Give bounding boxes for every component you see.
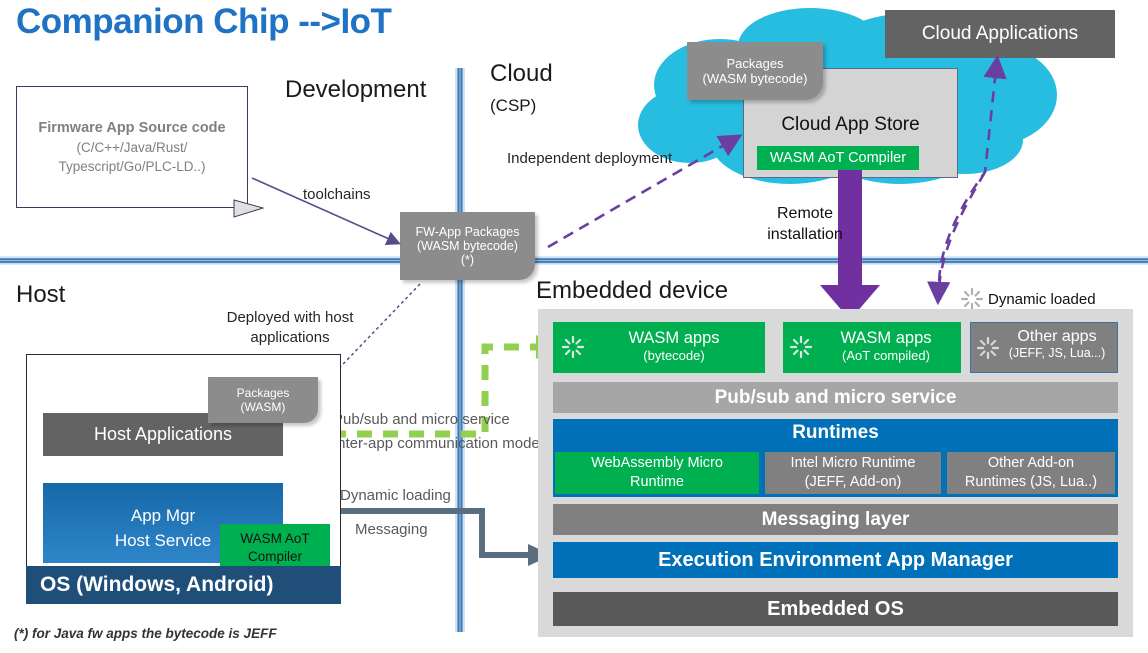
diagram-canvas: Companion Chip -->IoT Development Cloud … [0,0,1148,653]
cloud-wasm-aot-compiler-box: WASM AoT Compiler [757,146,919,170]
remote-installation-arrow [820,170,880,320]
horizontal-divider [0,256,1148,265]
fw-packages-line1: FW-App Packages [416,225,520,239]
label-interapp-models: Inter-app communication models [333,435,551,452]
embedded-exec-env-bar: Execution Environment App Manager [553,542,1118,578]
embedded-runtime-box-1: Intel Micro Runtime (JEFF, Add-on) [765,452,941,494]
host-os-box: OS (Windows, Android) [26,566,341,604]
dynamic-loaded-spinner-icon [960,287,984,311]
embedded-app-box-0: WASM apps (bytecode) [553,322,765,373]
host-packages-note: Packages (WASM) [208,377,318,423]
host-wasm-aot-l2: Compiler [248,548,302,566]
section-heading-host: Host [16,281,65,309]
cloud-applications-box: Cloud Applications [885,10,1115,58]
cloud-packages-line1: Packages [726,56,783,71]
app-spinner-icon-0 [561,335,585,359]
cloud-packages-line2: (WASM bytecode) [703,71,808,86]
embedded-app-box-1: WASM apps (AoT compiled) [783,322,961,373]
vertical-divider [455,68,465,632]
embedded-runtime-l2-2: Runtimes (JS, Lua..) [965,473,1097,492]
embedded-runtime-l2-1: (JEFF, Add-on) [805,473,902,492]
label-deployed-with-host-l2: applications [215,328,365,348]
section-heading-cloud: Cloud [490,60,553,88]
cloud-packages-note: Packages (WASM bytecode) [687,42,823,100]
label-dynamic-loaded: Dynamic loaded [988,291,1096,308]
embedded-runtime-l1-2: Other Add-on [988,454,1074,473]
firmware-source-title: Firmware App Source code [38,118,225,138]
host-packages-line2: (WASM) [241,400,286,414]
label-deployed-with-host: Deployed with host applications [215,308,365,348]
embedded-pubsub-bar: Pub/sub and micro service [553,382,1118,413]
firmware-source-code-box: Firmware App Source code (C/C++/Java/Rus… [16,86,248,208]
host-wasm-aot-compiler-box: WASM AoT Compiler [220,524,330,571]
embedded-app-box-2: Other apps (JEFF, JS, Lua...) [970,322,1118,373]
label-dynamic-loading: Dynamic loading [340,487,451,504]
fw-packages-line2: (WASM bytecode) [417,239,518,253]
section-subheading-csp: (CSP) [490,96,536,116]
embedded-runtime-box-0: WebAssembly Micro Runtime [555,452,759,494]
cloud-app-store-title: Cloud App Store [744,114,957,136]
label-messaging: Messaging [355,521,428,538]
embedded-runtime-box-2: Other Add-on Runtimes (JS, Lua..) [947,452,1115,494]
embedded-runtime-l1-1: Intel Micro Runtime [791,454,916,473]
footnote: (*) for Java fw apps the bytecode is JEF… [14,626,277,641]
label-deployed-with-host-l1: Deployed with host [215,308,365,328]
fw-app-packages-note: FW-App Packages (WASM bytecode) (*) [400,212,535,280]
embedded-app-sub-1: (AoT compiled) [811,348,961,363]
embedded-app-title-1: WASM apps [811,329,961,348]
section-heading-embedded-device: Embedded device [536,277,728,305]
embedded-app-sub-0: (bytecode) [583,348,765,363]
app-spinner-icon-1 [789,335,813,359]
embedded-app-sub-2: (JEFF, JS, Lua...) [997,346,1117,360]
embedded-runtimes-title: Runtimes [553,422,1118,444]
embedded-app-title-0: WASM apps [583,329,765,348]
label-independent-deployment: Independent deployment [507,150,672,167]
embedded-messaging-layer-bar: Messaging layer [553,504,1118,535]
label-pubsub-micro-service: Pub/sub and micro service [333,411,510,428]
firmware-source-langs-1: (C/C++/Java/Rust/ [76,138,187,157]
embedded-runtime-l2-0: Runtime [630,473,684,492]
label-remote-installation-l2: installation [760,224,850,245]
firmware-source-langs-2: Typescript/Go/PLC-LD..) [58,157,205,176]
section-heading-development: Development [285,76,426,104]
dynamic-loaded-down-arrow [938,172,985,300]
label-remote-installation: Remote installation [760,203,850,245]
page-title: Companion Chip -->IoT [16,2,391,42]
host-wasm-aot-l1: WASM AoT [240,530,309,548]
embedded-runtime-l1-0: WebAssembly Micro [591,454,723,473]
embedded-os-bar: Embedded OS [553,592,1118,626]
embedded-app-title-2: Other apps [997,328,1117,346]
fw-packages-line3: (*) [461,253,474,267]
embedded-runtimes-block: Runtimes WebAssembly Micro Runtime Intel… [553,419,1118,497]
label-remote-installation-l1: Remote [760,203,850,224]
label-toolchains: toolchains [303,186,371,203]
host-packages-line1: Packages [237,386,290,400]
